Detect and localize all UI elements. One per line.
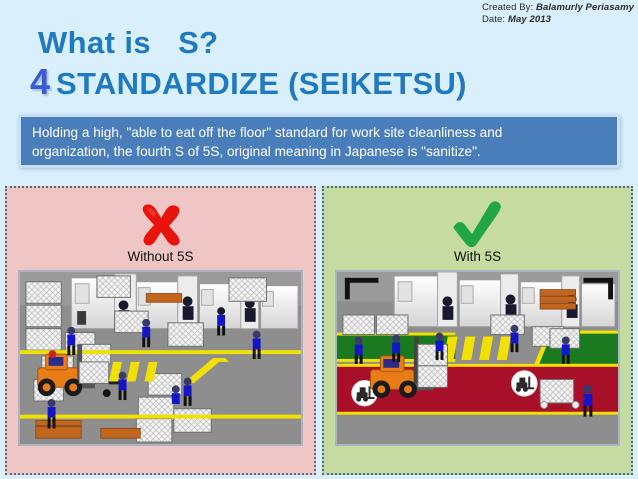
illustration-without-5s xyxy=(18,270,303,446)
created-by-label: Created By: xyxy=(482,2,533,13)
panel-with-5s: With 5S xyxy=(322,186,633,475)
description-line-2: organization, the fourth S of 5S, origin… xyxy=(32,142,606,161)
page-title-line2: 4 STANDARDIZE (SEIKETSU) xyxy=(30,64,467,100)
s-number: 4 xyxy=(30,64,50,100)
description-line-1: Holding a high, "able to eat off the flo… xyxy=(32,123,606,142)
slide-canvas: Created By: Balamurly Periasamy Date: Ma… xyxy=(0,0,638,479)
page-title-line1: What is S? xyxy=(38,25,218,61)
created-by-row: Created By: Balamurly Periasamy xyxy=(482,2,634,14)
illustration-with-5s xyxy=(335,270,620,446)
date-row: Date: May 2013 xyxy=(482,14,634,26)
description-callout: Holding a high, "able to eat off the flo… xyxy=(18,114,620,168)
red-cross-icon xyxy=(138,200,184,248)
date-value: May 2013 xyxy=(508,14,551,25)
panel-label-with-5s: With 5S xyxy=(454,249,501,264)
panel-label-without-5s: Without 5S xyxy=(127,249,193,264)
page-title-main: STANDARDIZE (SEIKETSU) xyxy=(56,68,467,99)
created-by-value: Balamurly Periasamy xyxy=(536,2,634,13)
date-label: Date: xyxy=(482,14,505,25)
comparison-panels: Without 5S xyxy=(5,186,633,475)
panel-without-5s: Without 5S xyxy=(5,186,316,475)
credit-block: Created By: Balamurly Periasamy Date: Ma… xyxy=(482,2,634,26)
green-check-icon xyxy=(452,200,504,248)
